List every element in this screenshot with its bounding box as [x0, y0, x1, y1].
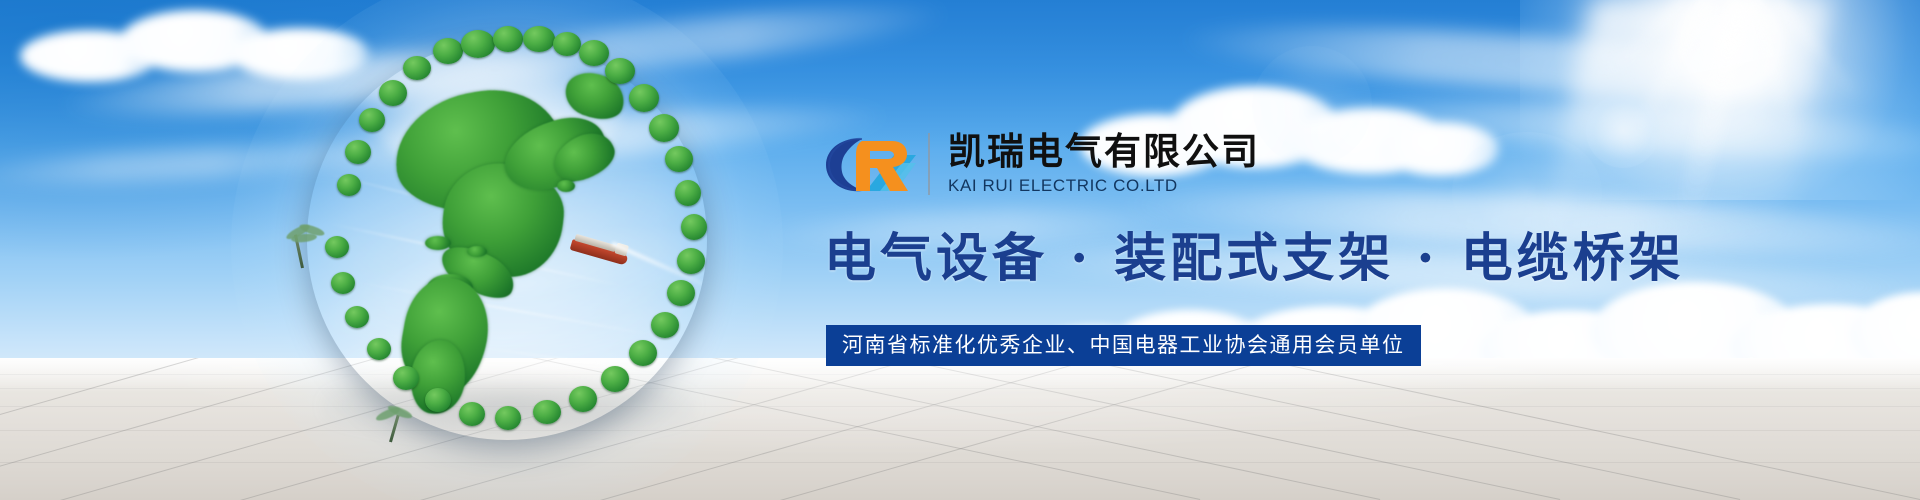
- cr-monogram-icon: [822, 133, 918, 195]
- logo-text-block: 凯瑞电气有限公司 KAI RUI ELECTRIC CO.LTD: [948, 132, 1260, 197]
- company-name-en: KAI RUI ELECTRIC CO.LTD: [948, 175, 1260, 197]
- banner-content: 凯瑞电气有限公司 KAI RUI ELECTRIC CO.LTD 电气设备 · …: [0, 0, 1920, 500]
- company-hero-banner: 凯瑞电气有限公司 KAI RUI ELECTRIC CO.LTD 电气设备 · …: [0, 0, 1920, 500]
- company-name-cn: 凯瑞电气有限公司: [948, 132, 1260, 172]
- company-logo-lockup: 凯瑞电气有限公司 KAI RUI ELECTRIC CO.LTD: [822, 126, 1260, 202]
- status-badge: 河南省标准化优秀企业、中国电器工业协会通用会员单位: [826, 325, 1421, 366]
- status-badge-label: 河南省标准化优秀企业、中国电器工业协会通用会员单位: [842, 325, 1405, 366]
- banner-headline: 电气设备 · 装配式支架 · 电缆桥架: [824, 228, 1685, 290]
- logo-divider: [928, 133, 930, 195]
